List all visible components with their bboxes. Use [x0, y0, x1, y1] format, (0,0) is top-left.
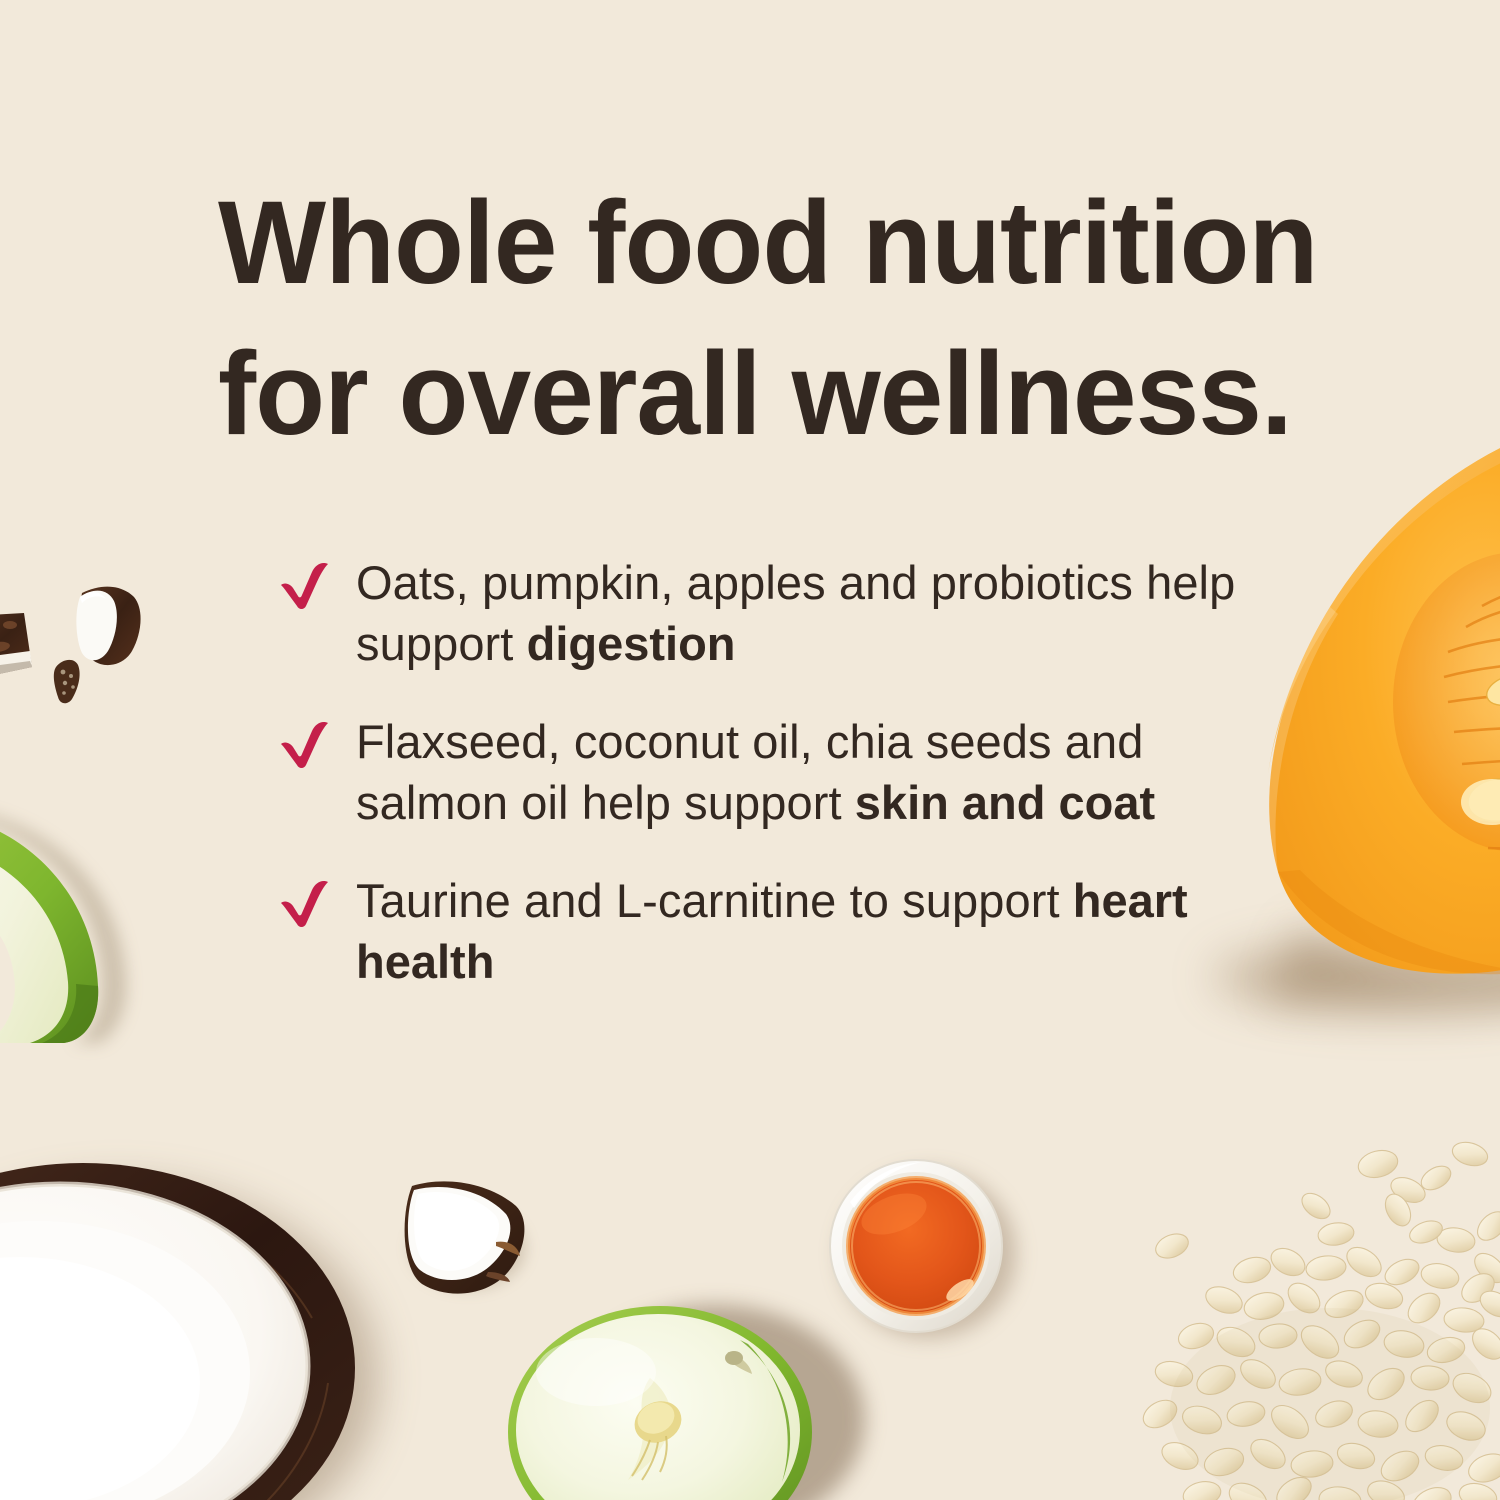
apple-slice-image — [0, 798, 172, 1043]
coconut-half-image — [0, 1168, 408, 1500]
page-title: Whole food nutrition for overall wellnes… — [218, 168, 1304, 470]
check-icon — [278, 880, 332, 928]
headline-line-1: Whole food nutrition — [218, 168, 1304, 319]
rolled-oats-image — [1140, 1138, 1500, 1500]
coconut-chunks-image — [0, 575, 180, 720]
bullet-text-emphasis: digestion — [527, 617, 736, 670]
oil-bowl-image — [820, 1148, 1020, 1348]
benefits-list: Oats, pumpkin, apples and probiotics hel… — [278, 552, 1238, 993]
bullet-text-plain: Taurine and L-carnitine to support — [356, 874, 1073, 927]
check-icon — [278, 562, 332, 610]
bullet-text-emphasis: skin and coat — [855, 776, 1155, 829]
apple-half-image — [500, 1300, 850, 1500]
list-item: Oats, pumpkin, apples and probiotics hel… — [278, 552, 1238, 674]
promo-canvas: Whole food nutrition for overall wellnes… — [0, 0, 1500, 1500]
list-item-label: Flaxseed, coconut oil, chia seeds and sa… — [356, 715, 1155, 829]
check-icon — [278, 721, 332, 769]
list-item: Taurine and L-carnitine to support heart… — [278, 870, 1238, 992]
list-item-label: Taurine and L-carnitine to support heart… — [356, 874, 1188, 988]
headline-line-2: for overall wellness. — [218, 319, 1304, 470]
coconut-chunk-image — [392, 1176, 542, 1306]
list-item-label: Oats, pumpkin, apples and probiotics hel… — [356, 556, 1235, 670]
bullet-text-plain: Oats, pumpkin, apples and probiotics hel… — [356, 556, 1235, 670]
list-item: Flaxseed, coconut oil, chia seeds and sa… — [278, 711, 1238, 833]
